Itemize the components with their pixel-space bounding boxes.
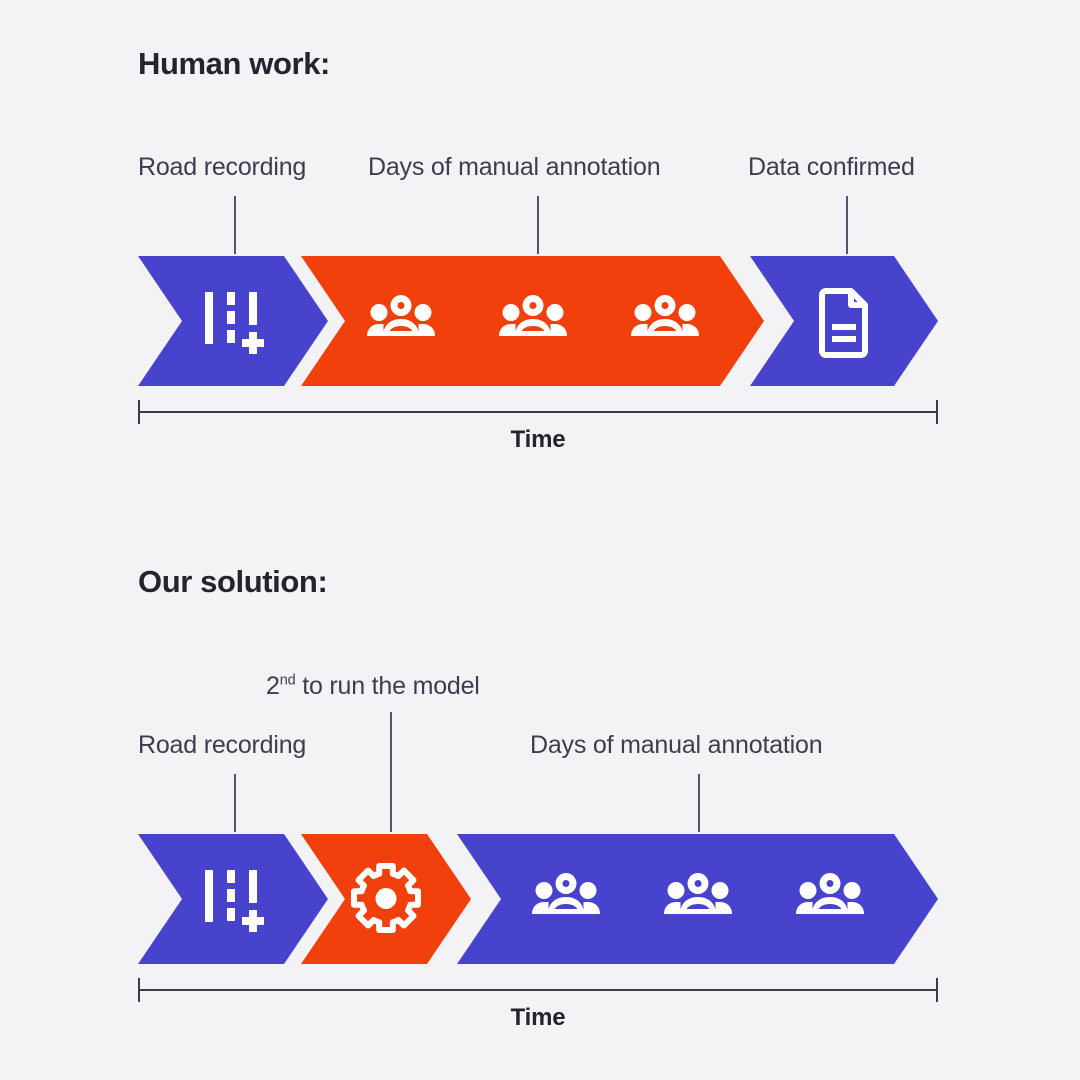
axis-line <box>138 989 938 991</box>
leader-line-run-the-model <box>390 712 392 832</box>
axis-line <box>138 411 938 413</box>
axis-caption-time: Time <box>138 1004 938 1032</box>
time-axis-our-solution: Time <box>138 978 938 1038</box>
label-road-recording-bottom: Road recording <box>138 731 306 760</box>
label-run-the-model-number: 2 <box>266 672 280 700</box>
section-title-human-work: Human work: <box>138 46 330 82</box>
people-group-icon <box>628 284 702 358</box>
people-group-icon <box>529 862 603 936</box>
axis-cap-right <box>936 978 938 1002</box>
label-days-of-manual-annotation-bottom: Days of manual annotation <box>530 731 822 760</box>
segment-road-recording-bottom[interactable] <box>138 834 328 964</box>
label-run-the-model-ordinal-suffix: nd <box>280 673 296 689</box>
section-title-our-solution: Our solution: <box>138 564 327 600</box>
axis-caption-time: Time <box>138 426 938 454</box>
people-group-icon <box>364 284 438 358</box>
people-group-icon <box>496 284 570 358</box>
segment-road-recording-top[interactable] <box>138 256 328 386</box>
label-run-the-model-rest: to run the model <box>295 672 479 700</box>
diagram-canvas: Human work: Road recording Days of manua… <box>0 0 1080 1080</box>
axis-cap-right <box>936 400 938 424</box>
time-axis-human-work: Time <box>138 400 938 460</box>
road-lane-plus-icon <box>196 862 270 936</box>
people-group-icon <box>793 862 867 936</box>
leader-line-data-confirmed-top <box>846 196 848 254</box>
leader-line-manual-annotation-bottom <box>698 774 700 832</box>
label-days-of-manual-annotation-top: Days of manual annotation <box>368 153 660 182</box>
timeline-band-human-work <box>138 256 938 386</box>
segment-manual-annotation-top[interactable] <box>301 256 764 386</box>
timeline-band-our-solution <box>138 834 938 964</box>
document-icon <box>807 284 881 358</box>
road-lane-plus-icon <box>196 284 270 358</box>
label-data-confirmed-top: Data confirmed <box>748 153 915 182</box>
segment-manual-annotation-bottom[interactable] <box>457 834 938 964</box>
people-group-icon <box>661 862 735 936</box>
leader-line-road-recording-bottom <box>234 774 236 832</box>
leader-line-manual-annotation-top <box>537 196 539 254</box>
segment-data-confirmed-top[interactable] <box>750 256 938 386</box>
leader-line-road-recording-top <box>234 196 236 254</box>
gear-icon <box>349 862 423 936</box>
label-run-the-model: 2nd to run the model <box>266 672 480 701</box>
label-road-recording-top: Road recording <box>138 153 306 182</box>
